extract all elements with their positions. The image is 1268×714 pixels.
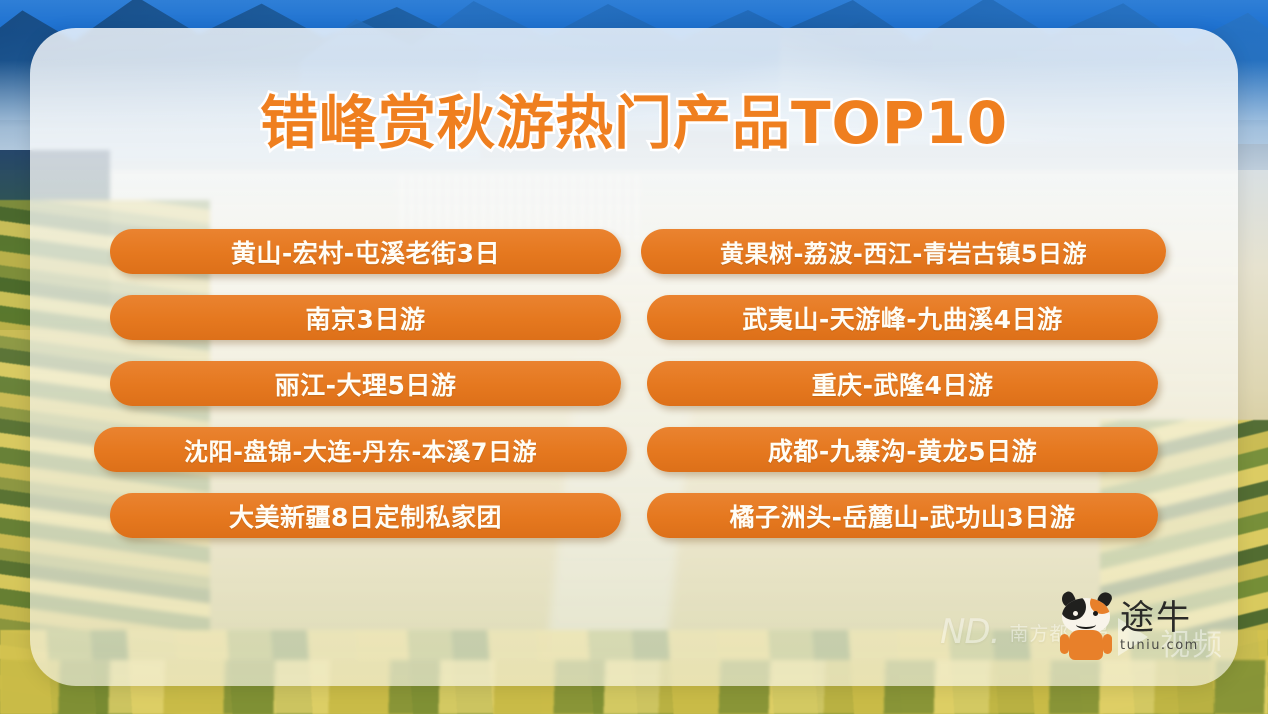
cow-eye-right <box>1093 611 1098 616</box>
cow-eye-left <box>1073 611 1078 616</box>
page-title: 错峰赏秋游热门产品TOP10 <box>0 76 1268 160</box>
product-list: 黄山-宏村-屯溪老街3日 南京3日游 丽江-大理5日游 沈阳-盘锦-大连-丹东-… <box>110 229 1158 559</box>
product-item[interactable]: 橘子洲头-岳麓山-武功山3日游 <box>647 493 1158 538</box>
product-column-right: 黄果树-荔波-西江-青岩古镇5日游 武夷山-天游峰-九曲溪4日游 重庆-武隆4日… <box>647 229 1158 559</box>
brand-name-cn: 途牛 <box>1120 601 1199 635</box>
brand-text: 途牛 tuniu.com <box>1120 601 1199 652</box>
nd-logo-mark: ND. <box>940 612 999 652</box>
cow-head <box>1062 598 1110 634</box>
cow-smile <box>1076 620 1096 629</box>
product-item[interactable]: 成都-九寨沟-黄龙5日游 <box>647 427 1158 472</box>
product-item[interactable]: 武夷山-天游峰-九曲溪4日游 <box>647 295 1158 340</box>
cow-face-patch <box>1062 598 1086 620</box>
cow-arm-right <box>1103 634 1112 654</box>
cow-mascot-icon <box>1058 590 1114 662</box>
product-item[interactable]: 重庆-武隆4日游 <box>647 361 1158 406</box>
brand-name-en: tuniu.com <box>1120 639 1199 652</box>
product-item[interactable]: 沈阳-盘锦-大连-丹东-本溪7日游 <box>94 427 627 472</box>
product-column-left: 黄山-宏村-屯溪老街3日 南京3日游 丽江-大理5日游 沈阳-盘锦-大连-丹东-… <box>110 229 621 559</box>
cow-arm-left <box>1060 634 1069 654</box>
product-item[interactable]: 南京3日游 <box>110 295 621 340</box>
cow-body <box>1069 630 1103 660</box>
brand-logo: 途牛 tuniu.com <box>1058 582 1238 670</box>
product-item[interactable]: 大美新疆8日定制私家团 <box>110 493 621 538</box>
product-item[interactable]: 黄山-宏村-屯溪老街3日 <box>110 229 621 274</box>
product-item[interactable]: 黄果树-荔波-西江-青岩古镇5日游 <box>641 229 1166 274</box>
product-item[interactable]: 丽江-大理5日游 <box>110 361 621 406</box>
